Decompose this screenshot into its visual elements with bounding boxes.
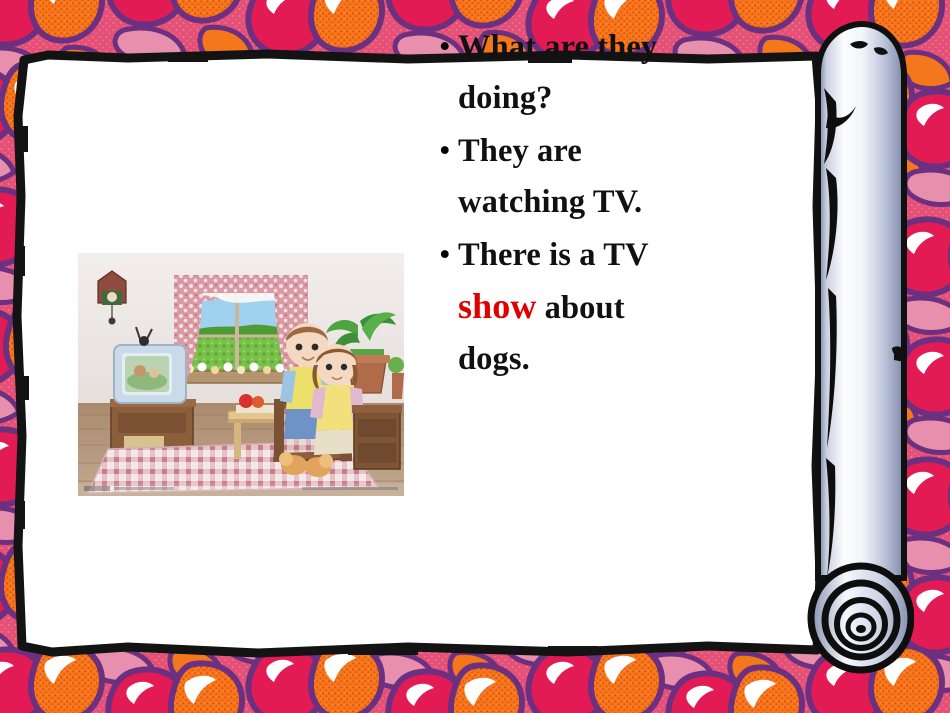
bullet-line-5: There is a TV (458, 237, 649, 273)
slide-root: • What are they doing? • They are watchi… (0, 0, 950, 713)
highlight-word-show: show (458, 286, 536, 326)
bullet-line-3: They are (458, 133, 582, 169)
list-item: • They are watching TV. (430, 126, 760, 228)
list-item: • There is a TV show about dogs. (430, 230, 760, 385)
bullet-item-1-text: What are they doing? (458, 22, 760, 124)
bullet-line-6-rest: about (536, 290, 624, 326)
diorama-photo-image (78, 253, 404, 496)
slide-content: • What are they doing? • They are watchi… (22, 58, 817, 656)
bullet-line-2: doing? (458, 80, 553, 116)
bullet-item-2-text: They are watching TV. (458, 126, 760, 228)
bullet-line-4: watching TV. (458, 184, 642, 220)
bullet-marker: • (430, 126, 458, 177)
scroll-roll (806, 18, 914, 678)
bullet-marker: • (430, 22, 458, 73)
bullet-line-7: dogs. (458, 341, 530, 377)
diorama-photo (78, 253, 404, 496)
scroll-spiral-end (811, 566, 911, 670)
scroll-roll-graphic (806, 18, 914, 678)
photo-watermark (78, 483, 404, 496)
bullet-marker: • (430, 230, 458, 281)
scroll-paper-sheet: • What are they doing? • They are watchi… (22, 58, 817, 656)
list-item: • What are they doing? (430, 22, 760, 124)
bullet-item-3-text: There is a TV show about dogs. (458, 230, 760, 385)
tv-set (110, 327, 196, 459)
bullet-line-1: What are they (458, 29, 657, 65)
side-cabinet (352, 405, 402, 469)
bullet-list: • What are they doing? • They are watchi… (430, 22, 760, 387)
